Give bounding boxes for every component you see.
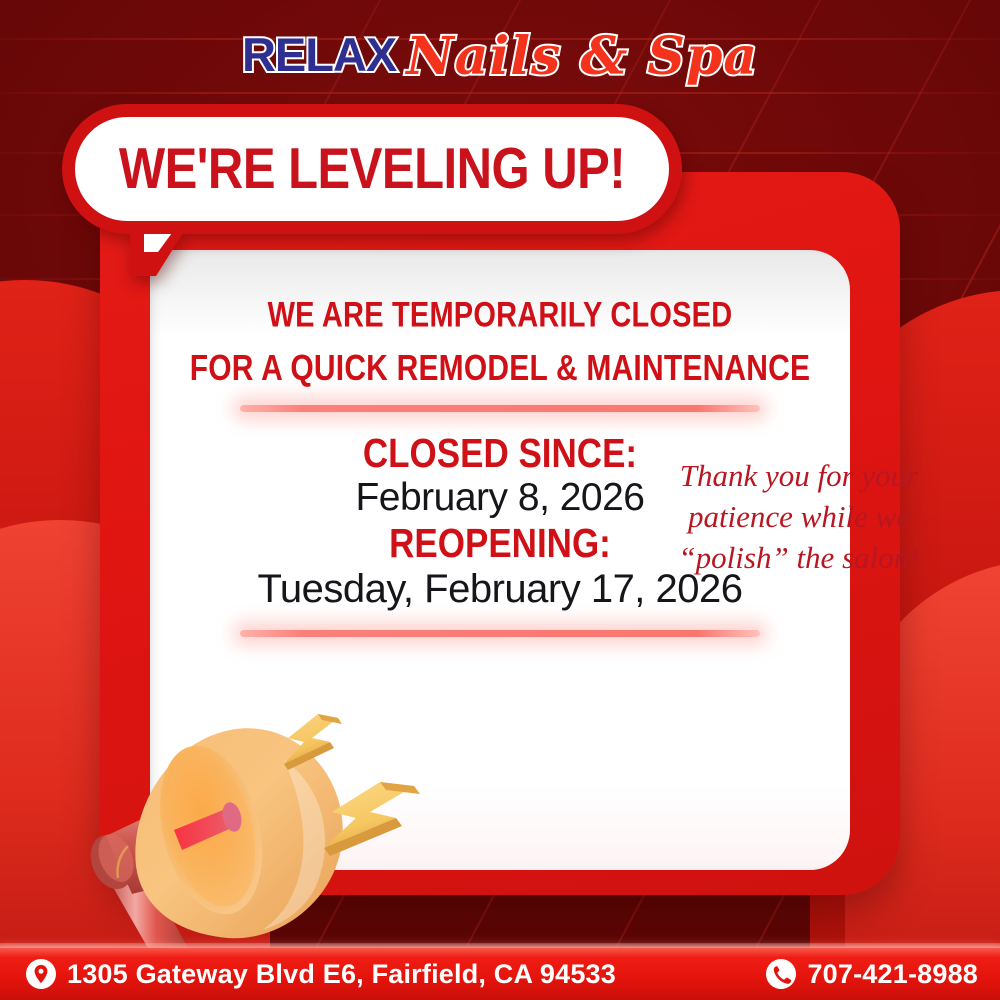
thank-you-line-1: Thank you for your (634, 455, 964, 496)
brand-name-script: Nails & Spa (406, 26, 758, 87)
speech-bubble-title: WE'RE LEVELING UP! (119, 136, 625, 202)
headline-line-2: FOR A QUICK REMODEL & MAINTENANCE (164, 351, 836, 387)
brand-name-primary: RELAX (242, 27, 396, 82)
thank-you-line-2: patience while we (634, 496, 964, 537)
footer-address-text: 1305 Gateway Blvd E6, Fairfield, CA 9453… (67, 959, 616, 990)
contact-footer: 1305 Gateway Blvd E6, Fairfield, CA 9453… (0, 948, 1000, 1000)
thank-you-note: Thank you for your patience while we “po… (634, 455, 964, 579)
brand-logo: RELAXNails & Spa (0, 26, 1000, 87)
footer-address[interactable]: 1305 Gateway Blvd E6, Fairfield, CA 9453… (26, 959, 616, 990)
location-pin-icon (26, 959, 56, 989)
footer-phone[interactable]: 707-421-8988 (766, 959, 978, 990)
speech-bubble: WE'RE LEVELING UP! (62, 104, 682, 274)
thank-you-line-3: “polish” the salon! (634, 537, 964, 578)
phone-icon (766, 959, 796, 989)
headline-line-1: WE ARE TEMPORARILY CLOSED (164, 299, 836, 334)
footer-phone-text: 707-421-8988 (807, 959, 978, 990)
speech-bubble-body: WE'RE LEVELING UP! (62, 104, 682, 234)
divider-top (240, 405, 760, 412)
divider-bottom (240, 630, 760, 637)
